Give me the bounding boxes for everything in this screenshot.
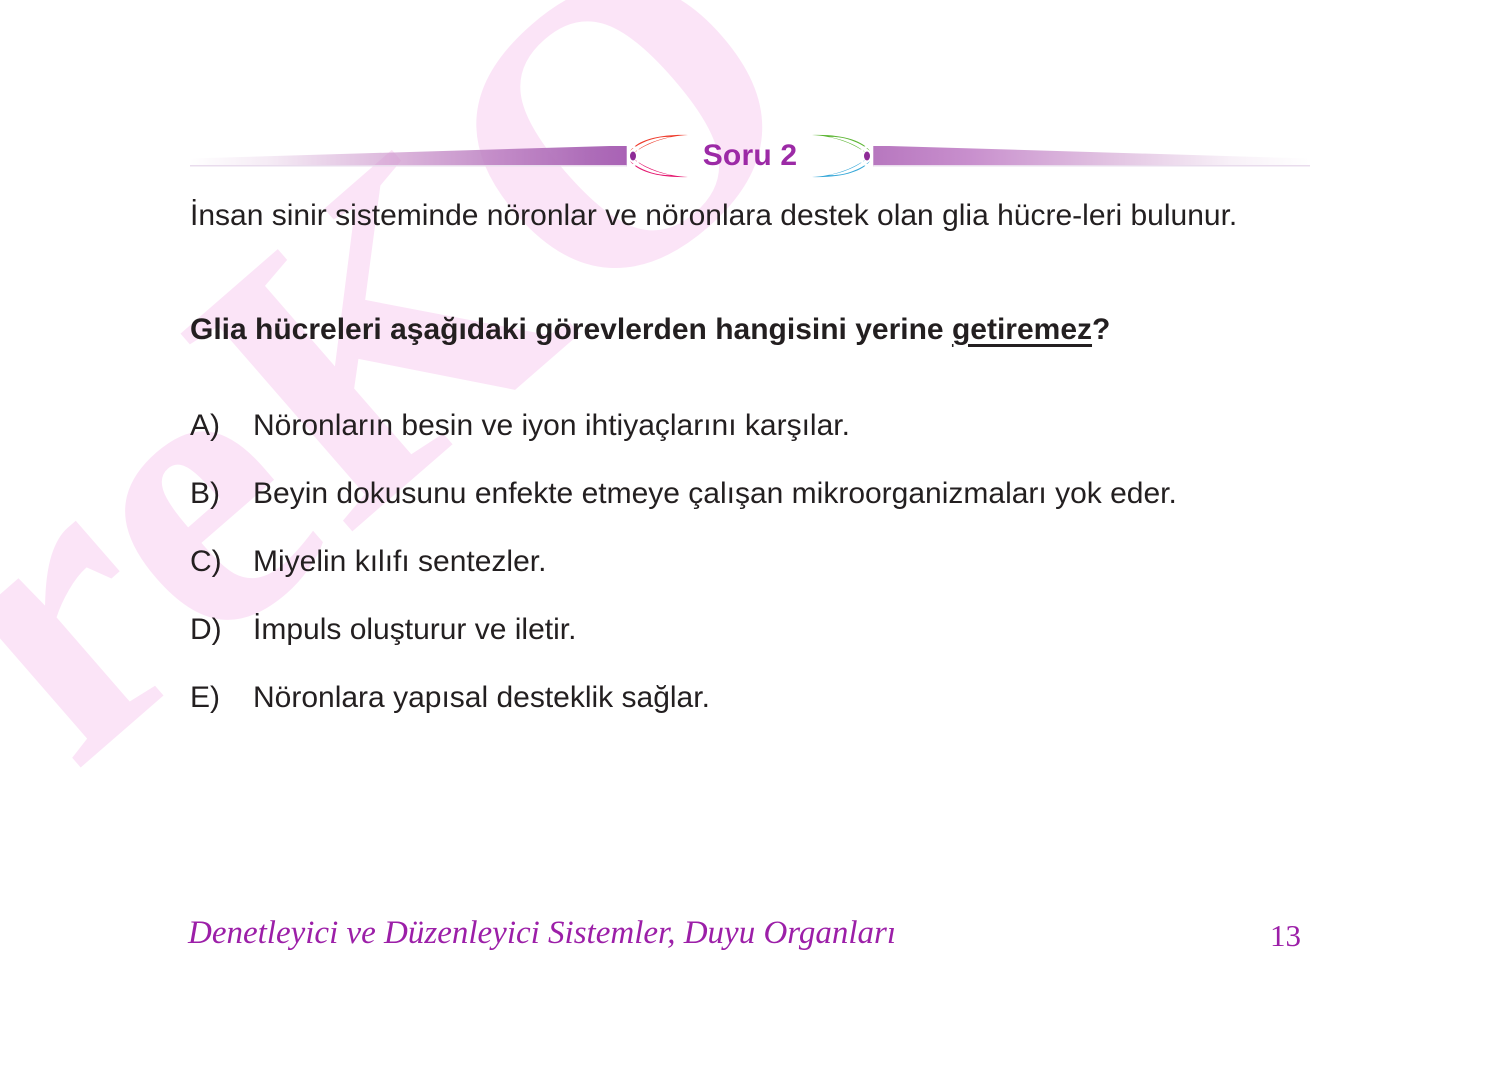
prompt-underlined-word: getiremez — [952, 313, 1092, 346]
page-number: 13 — [1270, 918, 1301, 954]
option-text-b: Beyin dokusunu enfekte etmeye çalışan mi… — [253, 471, 1350, 517]
swoosh-right-icon — [811, 133, 873, 179]
option-row-c[interactable]: C) Miyelin kılıfı sentezler. — [190, 539, 1350, 585]
option-row-a[interactable]: A) Nöronların besin ve iyon ihtiyaçların… — [190, 403, 1350, 449]
option-letter-c: C) — [190, 539, 253, 585]
question-prompt: Glia hücreleri aşağıdaki görevlerden han… — [190, 308, 1350, 352]
page-content: Soru 2 İnsan sinir sisteminde nöronlar v… — [0, 0, 1500, 1087]
prompt-lead-text: Glia hücreleri aşağıdaki görevlerden han… — [190, 313, 952, 346]
question-stem: İnsan sinir sisteminde nöronlar ve nöron… — [190, 192, 1315, 240]
header-rule-left — [190, 146, 627, 167]
option-text-a: Nöronların besin ve iyon ihtiyaçlarını k… — [253, 403, 1350, 449]
option-text-e: Nöronlara yapısal desteklik sağlar. — [253, 675, 1350, 721]
option-letter-a: A) — [190, 403, 253, 449]
answer-options-list: A) Nöronların besin ve iyon ihtiyaçların… — [190, 403, 1350, 743]
option-text-d: İmpuls oluşturur ve iletir. — [253, 607, 1350, 653]
document-page: reKO Soru 2 İnsan sinir sisteminde nöron… — [0, 0, 1500, 1087]
option-letter-b: B) — [190, 471, 253, 517]
option-text-c: Miyelin kılıfı sentezler. — [253, 539, 1350, 585]
header-rule-right — [873, 146, 1310, 167]
option-letter-e: E) — [190, 675, 253, 721]
option-row-e[interactable]: E) Nöronlara yapısal desteklik sağlar. — [190, 675, 1350, 721]
option-row-d[interactable]: D) İmpuls oluşturur ve iletir. — [190, 607, 1350, 653]
option-row-b[interactable]: B) Beyin dokusunu enfekte etmeye çalışan… — [190, 471, 1350, 517]
swoosh-left-icon — [627, 133, 689, 179]
prompt-trailing-text: ? — [1092, 313, 1110, 346]
question-header-banner: Soru 2 — [190, 128, 1310, 184]
footer-chapter-title: Denetleyici ve Düzenleyici Sistemler, Du… — [188, 915, 896, 952]
option-letter-d: D) — [190, 607, 253, 653]
question-number-label: Soru 2 — [689, 139, 812, 173]
